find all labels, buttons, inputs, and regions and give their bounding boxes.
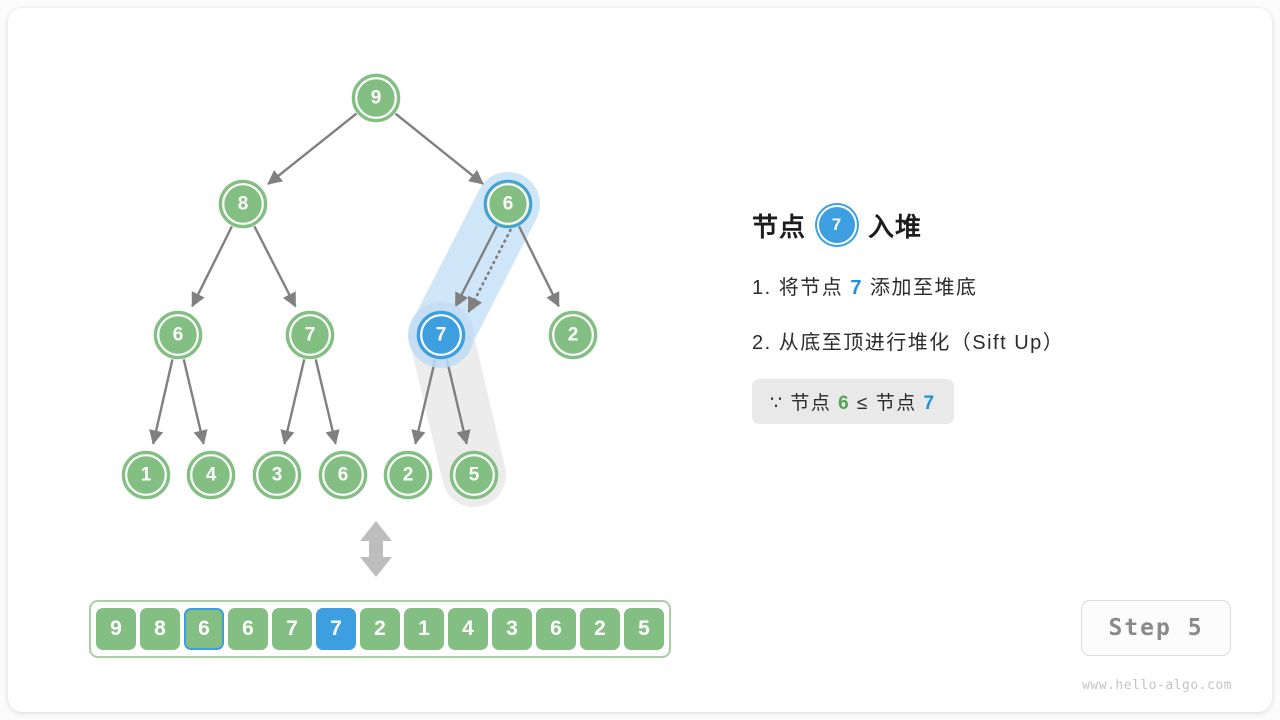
tree-node-label: 7 [305, 325, 316, 346]
array-cell: 6 [228, 608, 268, 650]
tree-node-label: 6 [503, 194, 514, 215]
array-cell: 2 [360, 608, 400, 650]
step-1-before: 将节点 [779, 277, 844, 299]
tree-node-label: 7 [436, 325, 447, 346]
step-1-index: 1. [752, 277, 772, 299]
tree-node: 7 [408, 302, 474, 368]
array-cell: 8 [140, 608, 180, 650]
tree-edge [184, 359, 204, 444]
tree-node: 8 [220, 181, 266, 227]
tree-node: 1 [123, 452, 169, 498]
tree-nodes: 9866772143625 [123, 75, 596, 498]
array-cell: 6 [536, 608, 576, 650]
tree-node: 4 [188, 452, 234, 498]
step-2-before: 从底至顶进行堆化（Sift Up） [779, 332, 1065, 354]
tree-edge [268, 114, 356, 184]
tree-node: 9 [353, 75, 399, 121]
tree-array-link-arrow [360, 521, 392, 577]
formula-left-value: 6 [838, 393, 850, 414]
condition-formula: ∵ 节点 6 ≤ 节点 7 [752, 379, 954, 424]
array-cell: 5 [624, 608, 664, 650]
panel-title: 节点 7 入堆 [752, 205, 1222, 245]
formula-because-icon: ∵ [770, 393, 784, 414]
formula-right-value: 7 [924, 393, 936, 414]
array-cell: 9 [96, 608, 136, 650]
array-cell: 1 [404, 608, 444, 650]
array-cell: 3 [492, 608, 532, 650]
formula-operator: ≤ [857, 393, 869, 414]
tree-edge [153, 359, 172, 443]
tree-node: 2 [385, 452, 431, 498]
tree-node-label: 4 [206, 465, 217, 486]
step-2-index: 2. [752, 332, 772, 354]
tree-edge [316, 359, 336, 444]
tree-node: 6 [320, 452, 366, 498]
tree-node: 6 [155, 312, 201, 358]
step-1-value: 7 [850, 277, 863, 299]
step-1-after: 添加至堆底 [870, 277, 978, 299]
tree-node-label: 2 [403, 465, 414, 486]
array-cell: 6 [184, 608, 224, 650]
tree-node-label: 3 [272, 465, 283, 486]
tree-node-label: 6 [173, 325, 184, 346]
tree-node: 7 [287, 312, 333, 358]
step-line-2: 2. 从底至顶进行堆化（Sift Up） [752, 326, 1222, 355]
array-cell: 2 [580, 608, 620, 650]
tree-node-label: 1 [141, 465, 152, 486]
tree-edge [192, 226, 232, 306]
tree-edge [254, 226, 295, 306]
tree-node-label: 6 [338, 465, 349, 486]
array-cell: 4 [448, 608, 488, 650]
formula-left-label: 节点 [790, 393, 831, 414]
tree-edge [284, 359, 304, 444]
watermark: www.hello-algo.com [1072, 678, 1232, 693]
title-node-badge: 7 [817, 205, 857, 245]
panel-title-prefix: 节点 [752, 207, 806, 244]
diagram-stage: 9866772143625 节点 7 入堆 1. 将节点 7 添加至堆底 2. … [0, 0, 1280, 720]
tree-node-label: 2 [568, 325, 579, 346]
step-badge: Step 5 [1081, 600, 1231, 656]
tree-node: 3 [254, 452, 300, 498]
step-line-1: 1. 将节点 7 添加至堆底 [752, 271, 1222, 300]
panel-title-suffix: 入堆 [868, 207, 922, 244]
tree-node: 6 [485, 181, 531, 227]
tree-node-label: 8 [238, 194, 249, 215]
tree-node-label: 9 [371, 88, 382, 109]
heap-array: 9866772143625 [89, 600, 671, 658]
array-cell: 7 [272, 608, 312, 650]
tree-node: 5 [451, 452, 497, 498]
tree-node-label: 5 [469, 465, 480, 486]
formula-right-label: 节点 [876, 393, 917, 414]
array-cell: 7 [316, 608, 356, 650]
explanation-panel: 节点 7 入堆 1. 将节点 7 添加至堆底 2. 从底至顶进行堆化（Sift … [752, 205, 1222, 424]
tree-edge [519, 226, 559, 306]
tree-node: 2 [550, 312, 596, 358]
tree-edge [395, 114, 483, 184]
